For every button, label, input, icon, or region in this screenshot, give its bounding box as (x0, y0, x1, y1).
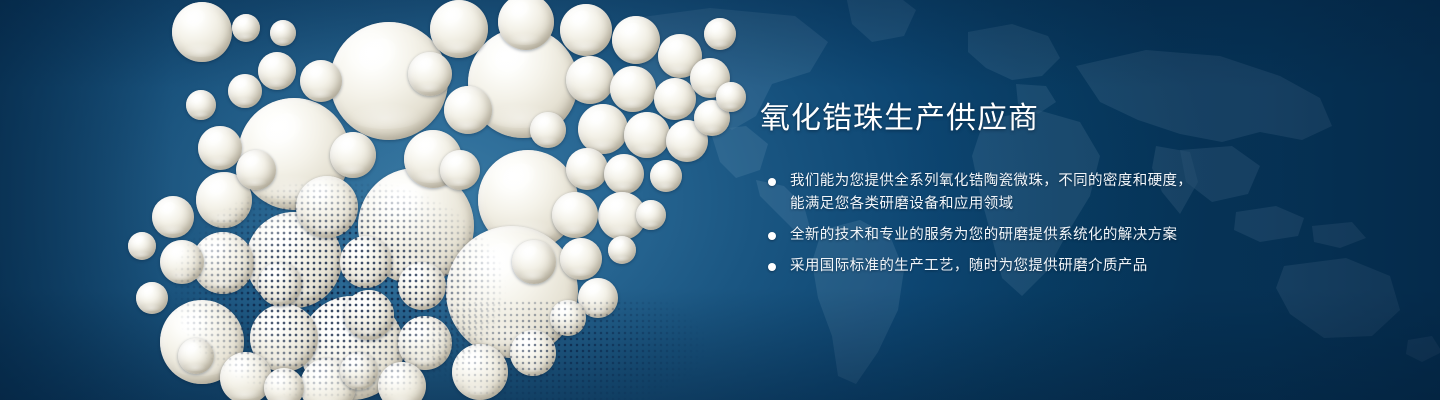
zirconia-bead-cluster (0, 0, 760, 400)
bead (446, 226, 578, 358)
bead (264, 368, 304, 400)
hero-banner: 氧化锆珠生产供应商 我们能为您提供全系列氧化锆陶瓷微珠，不同的密度和硬度， 能满… (0, 0, 1440, 400)
bead (186, 90, 216, 120)
bead (258, 52, 296, 90)
bead (578, 104, 628, 154)
bead (716, 82, 746, 112)
bead (452, 344, 508, 400)
bead (624, 112, 670, 158)
bead (398, 262, 446, 310)
bead (300, 60, 342, 102)
bead (552, 192, 598, 238)
bead (608, 236, 636, 264)
bead (178, 338, 214, 374)
feature-item: 全新的技术和专业的服务为您的研磨提供系统化的解决方案 (760, 224, 1380, 247)
feature-item: 我们能为您提供全系列氧化锆陶瓷微珠，不同的密度和硬度， 能满足您各类研磨设备和应… (760, 170, 1380, 216)
bead (228, 74, 262, 108)
bead (136, 282, 168, 314)
feature-line: 能满足您各类研磨设备和应用领域 (790, 193, 1380, 216)
bead (636, 200, 666, 230)
bullet-dot-icon (768, 263, 776, 271)
bullet-dot-icon (768, 232, 776, 240)
bead (560, 238, 602, 280)
banner-feature-list: 我们能为您提供全系列氧化锆陶瓷微珠，不同的密度和硬度， 能满足您各类研磨设备和应… (760, 170, 1380, 278)
bead (258, 262, 302, 306)
bead (440, 150, 480, 190)
feature-line: 采用国际标准的生产工艺，随时为您提供研磨介质产品 (790, 255, 1380, 278)
bead (704, 18, 736, 50)
bead (610, 66, 656, 112)
bead (612, 16, 660, 64)
feature-line: 我们能为您提供全系列氧化锆陶瓷微珠，不同的密度和硬度， (790, 170, 1380, 193)
bead (198, 126, 242, 170)
bead (510, 330, 556, 376)
bead (530, 112, 566, 148)
bead (566, 148, 608, 190)
bead (344, 290, 394, 340)
bead (270, 20, 296, 46)
bead (172, 2, 232, 62)
bead (128, 232, 156, 260)
banner-copy: 氧化锆珠生产供应商 我们能为您提供全系列氧化锆陶瓷微珠，不同的密度和硬度， 能满… (760, 104, 1380, 278)
bead (604, 154, 644, 194)
feature-item: 采用国际标准的生产工艺，随时为您提供研磨介质产品 (760, 255, 1380, 278)
bead (232, 14, 260, 42)
bead (430, 0, 488, 58)
bead (650, 160, 682, 192)
bead (340, 352, 378, 390)
bead (330, 132, 376, 178)
feature-line: 全新的技术和专业的服务为您的研磨提供系统化的解决方案 (790, 224, 1380, 247)
bead (296, 176, 358, 238)
bead (560, 4, 612, 56)
bead (654, 78, 696, 120)
bead (408, 52, 452, 96)
bead (566, 56, 614, 104)
bullet-dot-icon (768, 178, 776, 186)
bead (152, 196, 194, 238)
bead (550, 300, 586, 336)
bead (236, 150, 276, 190)
banner-headline: 氧化锆珠生产供应商 (760, 104, 1380, 134)
bead (444, 86, 492, 134)
bead (160, 240, 204, 284)
bead (340, 236, 392, 288)
bead (512, 240, 556, 284)
